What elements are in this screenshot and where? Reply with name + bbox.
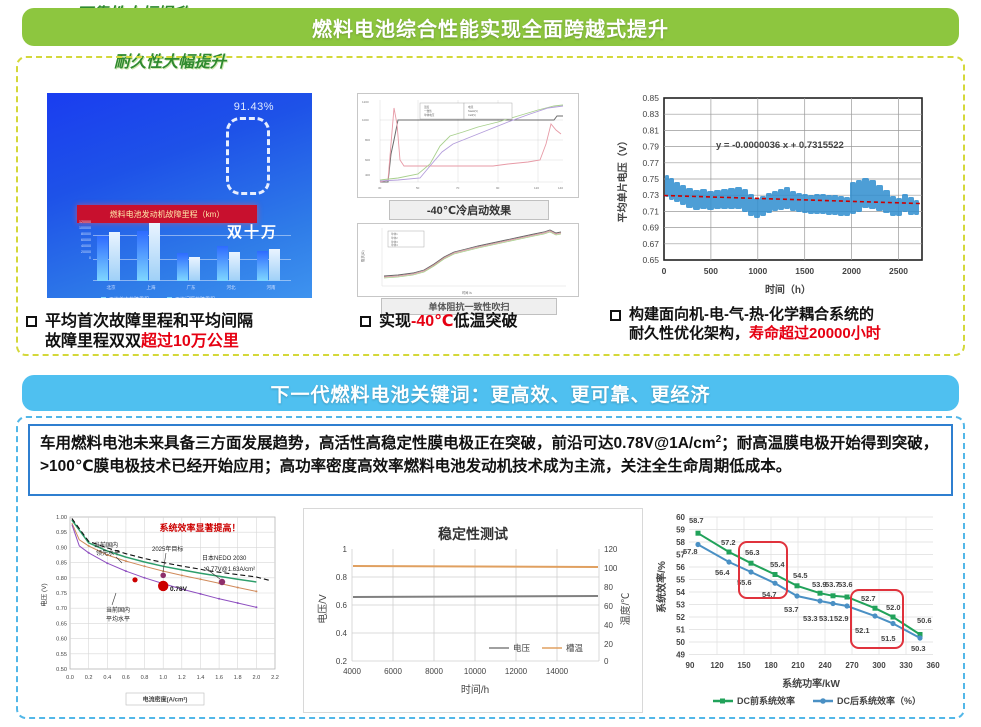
svg-text:系统效率/%: 系统效率/% bbox=[655, 561, 668, 613]
dashed-highlight-capsule bbox=[226, 117, 270, 195]
svg-text:57.8: 57.8 bbox=[683, 547, 698, 556]
svg-text:电压: 电压 bbox=[513, 643, 531, 653]
svg-text:1500: 1500 bbox=[795, 266, 814, 276]
svg-text:20: 20 bbox=[604, 640, 613, 649]
svg-text:电流: 电流 bbox=[468, 105, 474, 109]
svg-text:槽温: 槽温 bbox=[566, 643, 584, 653]
svg-text:0.79: 0.79 bbox=[642, 142, 659, 152]
svg-text:1.8: 1.8 bbox=[234, 675, 242, 681]
svg-text:58: 58 bbox=[676, 538, 685, 547]
svg-text:53.7: 53.7 bbox=[784, 605, 799, 614]
svg-text:1000: 1000 bbox=[362, 118, 369, 122]
impedance-sweep-plot: 单体1单体2单体3单体4 阻抗(Ω) 时间 /s bbox=[357, 223, 579, 297]
svg-text:59: 59 bbox=[676, 526, 685, 535]
mid-banner-title: 下一代燃料电池关键词：更高效、更可靠、更经济 bbox=[22, 375, 959, 411]
svg-text:2.2: 2.2 bbox=[271, 675, 279, 681]
svg-text:时间/h: 时间/h bbox=[461, 683, 489, 696]
svg-text:0.75: 0.75 bbox=[56, 591, 67, 597]
svg-text:系统功率/kW: 系统功率/kW bbox=[782, 677, 840, 690]
svg-text:一致性: 一致性 bbox=[424, 109, 432, 113]
svg-text:49: 49 bbox=[676, 651, 685, 660]
svg-text:0.80: 0.80 bbox=[56, 576, 67, 582]
svg-text:53.1: 53.1 bbox=[819, 614, 834, 623]
svg-text:0.60: 0.60 bbox=[56, 637, 67, 643]
svg-text:52: 52 bbox=[676, 613, 685, 622]
svg-text:0.70: 0.70 bbox=[56, 606, 67, 612]
svg-text:600: 600 bbox=[365, 158, 370, 162]
svg-text:0.75: 0.75 bbox=[642, 174, 659, 184]
svg-text:30: 30 bbox=[378, 186, 382, 190]
svg-text:51.5: 51.5 bbox=[881, 634, 896, 643]
svg-text:阻抗(Ω): 阻抗(Ω) bbox=[360, 250, 365, 262]
svg-text:领先水平: 领先水平 bbox=[96, 549, 120, 557]
bullet-text: 构建面向机-电-气-热-化学耦合系统的 耐久性优化架构，寿命超过20000小时 bbox=[629, 306, 881, 344]
svg-text:56.3: 56.3 bbox=[745, 548, 760, 557]
system-efficiency-chart: 605958 575655 545352 515049 90120150 180… bbox=[653, 505, 953, 717]
svg-text:0.6: 0.6 bbox=[336, 601, 348, 610]
svg-text:100: 100 bbox=[604, 564, 618, 573]
svg-text:53.6: 53.6 bbox=[838, 580, 853, 589]
percent-label: 91.43% bbox=[234, 101, 274, 113]
svg-text:DC后系统效率（%）: DC后系统效率（%） bbox=[837, 695, 921, 706]
cold-start-caption: -40℃冷启动效果 bbox=[389, 200, 549, 220]
svg-text:2.0: 2.0 bbox=[253, 675, 261, 681]
svg-text:53.3: 53.3 bbox=[803, 614, 818, 623]
svg-text:240: 240 bbox=[818, 661, 832, 670]
svg-text:60: 60 bbox=[676, 513, 685, 522]
svg-text:54.5: 54.5 bbox=[793, 571, 808, 580]
svg-text:60: 60 bbox=[604, 602, 613, 611]
svg-text:57.2: 57.2 bbox=[721, 538, 736, 547]
svg-text:80: 80 bbox=[604, 583, 613, 592]
svg-text:单体4: 单体4 bbox=[391, 243, 398, 247]
svg-text:400: 400 bbox=[365, 173, 370, 177]
svg-text:0.77: 0.77 bbox=[642, 158, 659, 168]
svg-text:54: 54 bbox=[676, 588, 685, 597]
svg-text:180: 180 bbox=[764, 661, 778, 670]
svg-text:1200: 1200 bbox=[362, 100, 369, 104]
svg-text:270: 270 bbox=[845, 661, 859, 670]
svg-text:时间（h）: 时间（h） bbox=[765, 283, 811, 296]
slide-page: 燃料电池综合性能实现全面跨越式提升 可靠性大幅提升 环境适应性全新突破 耐久性大… bbox=[0, 0, 981, 727]
svg-text:55.4: 55.4 bbox=[770, 560, 785, 569]
svg-text:800: 800 bbox=[365, 138, 370, 142]
bullet-environment: 实现-40℃低温突破 bbox=[360, 312, 600, 332]
bullet-durability: 构建面向机-电-气-热-化学耦合系统的 耐久性优化架构，寿命超过20000小时 bbox=[610, 306, 960, 344]
bullet-square-icon bbox=[26, 316, 37, 327]
svg-text:0.83: 0.83 bbox=[642, 109, 659, 119]
svg-text:Stack(V): Stack(V) bbox=[468, 109, 478, 113]
svg-text:单体1: 单体1 bbox=[391, 232, 398, 236]
svg-text:0: 0 bbox=[604, 657, 609, 666]
svg-text:4000: 4000 bbox=[343, 667, 361, 676]
svg-text:稳定性测试: 稳定性测试 bbox=[438, 526, 508, 542]
svg-text:150: 150 bbox=[737, 661, 751, 670]
svg-text:y = -0.0000036 x + 0.7315522: y = -0.0000036 x + 0.7315522 bbox=[716, 140, 844, 151]
svg-text:2025年目标: 2025年目标 bbox=[152, 545, 183, 553]
svg-text:2500: 2500 bbox=[889, 266, 908, 276]
svg-text:0.78V: 0.78V bbox=[170, 586, 188, 593]
svg-text:0.71: 0.71 bbox=[642, 206, 659, 216]
svg-text:50: 50 bbox=[676, 638, 685, 647]
svg-text:0.50: 0.50 bbox=[56, 667, 67, 673]
svg-text:50: 50 bbox=[416, 186, 420, 190]
svg-text:单体电压: 单体电压 bbox=[424, 113, 435, 117]
bullet-square-icon bbox=[610, 310, 621, 321]
svg-text:Cell(V): Cell(V) bbox=[468, 113, 476, 117]
svg-text:1.2: 1.2 bbox=[178, 675, 186, 681]
svg-text:日本NEDO 2030: 日本NEDO 2030 bbox=[202, 554, 247, 562]
svg-text:58.7: 58.7 bbox=[689, 516, 704, 525]
svg-text:40: 40 bbox=[604, 621, 613, 630]
svg-text:0.8: 0.8 bbox=[141, 675, 149, 681]
svg-text:500: 500 bbox=[704, 266, 718, 276]
svg-text:55: 55 bbox=[676, 576, 685, 585]
svg-text:14000: 14000 bbox=[546, 667, 569, 676]
bullet-text: 实现-40℃低温突破 bbox=[379, 312, 518, 332]
svg-text:56: 56 bbox=[676, 563, 685, 572]
svg-text:0: 0 bbox=[662, 266, 667, 276]
svg-text:53: 53 bbox=[676, 601, 685, 610]
svg-text:系统效率显著提高！: 系统效率显著提高！ bbox=[159, 522, 240, 533]
svg-text:1: 1 bbox=[343, 545, 348, 554]
svg-text:当前国内: 当前国内 bbox=[94, 541, 118, 549]
svg-text:单体2: 单体2 bbox=[391, 236, 398, 240]
svg-text:0.95: 0.95 bbox=[56, 530, 67, 536]
svg-text:120: 120 bbox=[604, 545, 618, 554]
cold-start-plot: 温度一致性单体电压 电流Stack(V)Cell(V) 12001000800 … bbox=[357, 93, 579, 198]
svg-text:52.9: 52.9 bbox=[834, 614, 849, 623]
mini-bar-y-axis: 120000 100000 80000 60000 40000 20000 0 bbox=[65, 219, 91, 261]
svg-text:0.4: 0.4 bbox=[336, 629, 348, 638]
svg-text:0.85: 0.85 bbox=[56, 561, 67, 567]
svg-text:1.6: 1.6 bbox=[215, 675, 223, 681]
svg-text:0.6: 0.6 bbox=[122, 675, 130, 681]
svg-text:10000: 10000 bbox=[464, 667, 487, 676]
svg-text:0.69: 0.69 bbox=[642, 223, 659, 233]
svg-text:温度: 温度 bbox=[424, 105, 430, 109]
svg-text:0.73: 0.73 bbox=[642, 190, 659, 200]
svg-text:90: 90 bbox=[496, 186, 500, 190]
svg-text:1000: 1000 bbox=[748, 266, 767, 276]
svg-text:电压 (V): 电压 (V) bbox=[39, 583, 48, 606]
y-tick: 0.85 bbox=[642, 93, 659, 103]
svg-text:360: 360 bbox=[926, 661, 940, 670]
svg-text:90: 90 bbox=[686, 661, 695, 670]
svg-text:0.4: 0.4 bbox=[103, 675, 111, 681]
polarization-chart: 1.000.950.90 0.850.800.75 0.700.650.60 0… bbox=[30, 505, 292, 717]
svg-text:0.8: 0.8 bbox=[336, 573, 348, 582]
svg-text:0.2: 0.2 bbox=[85, 675, 93, 681]
stability-chart: 稳定性测试 10.80.6 0.40.2 bbox=[303, 508, 643, 713]
svg-text:平均单片电压（V）: 平均单片电压（V） bbox=[616, 136, 629, 223]
svg-text:8000: 8000 bbox=[425, 667, 443, 676]
svg-text:52.0: 52.0 bbox=[886, 603, 901, 612]
svg-text:300: 300 bbox=[872, 661, 886, 670]
svg-text:50.3: 50.3 bbox=[911, 644, 926, 653]
svg-text:1.0: 1.0 bbox=[159, 675, 167, 681]
svg-text:210: 210 bbox=[791, 661, 805, 670]
svg-text:330: 330 bbox=[899, 661, 913, 670]
svg-text:120: 120 bbox=[534, 186, 539, 190]
svg-text:1.00: 1.00 bbox=[56, 515, 67, 521]
bullet-reliability: 平均首次故障里程和平均间隔 故障里程双双超过10万公里 bbox=[26, 312, 346, 352]
svg-text:DC前系统效率: DC前系统效率 bbox=[737, 695, 795, 706]
summary-paragraph: 车用燃料电池未来具备三方面发展趋势，高活性高稳定性膜电极正在突破，前沿可达0.7… bbox=[28, 424, 953, 496]
svg-text:56.4: 56.4 bbox=[715, 568, 730, 577]
svg-text:51: 51 bbox=[676, 626, 685, 635]
svg-text:温度/℃: 温度/℃ bbox=[619, 593, 632, 626]
svg-text:0.67: 0.67 bbox=[642, 239, 659, 249]
svg-text:0.77V@1.63A/cm²: 0.77V@1.63A/cm² bbox=[206, 567, 255, 573]
svg-text:0.81: 0.81 bbox=[642, 125, 659, 135]
bullet-square-icon bbox=[360, 316, 371, 327]
svg-text:12000: 12000 bbox=[505, 667, 528, 676]
svg-text:电流密度(A/cm²): 电流密度(A/cm²) bbox=[143, 696, 188, 704]
svg-text:0.65: 0.65 bbox=[642, 255, 659, 265]
svg-text:140: 140 bbox=[558, 186, 563, 190]
svg-text:0.0: 0.0 bbox=[66, 675, 74, 681]
svg-text:70: 70 bbox=[456, 186, 460, 190]
svg-text:6000: 6000 bbox=[384, 667, 402, 676]
top-banner-title: 燃料电池综合性能实现全面跨越式提升 bbox=[22, 8, 959, 46]
svg-text:50.6: 50.6 bbox=[917, 616, 932, 625]
svg-text:电压/V: 电压/V bbox=[316, 594, 329, 624]
svg-text:平均水平: 平均水平 bbox=[106, 615, 130, 623]
svg-text:0.55: 0.55 bbox=[56, 652, 67, 658]
mini-bar-chart: 120000 100000 80000 60000 40000 20000 0 … bbox=[65, 223, 295, 281]
svg-text:2000: 2000 bbox=[842, 266, 861, 276]
bullet-text: 平均首次故障里程和平均间隔 故障里程双双超过10万公里 bbox=[45, 312, 253, 352]
svg-text:52.7: 52.7 bbox=[861, 594, 876, 603]
svg-text:时间 /s: 时间 /s bbox=[462, 290, 472, 295]
reliability-slide-image: 91.43% 燃料电池发动机故障里程（km） 双十万 120000 100000… bbox=[47, 93, 312, 298]
svg-text:52.1: 52.1 bbox=[855, 626, 870, 635]
svg-text:当前国内: 当前国内 bbox=[106, 606, 130, 614]
durability-scatter-chart: 0.85 0.83 0.81 0.79 0.77 0.75 0.73 0.71 … bbox=[612, 90, 952, 302]
mini-bar-legend: 平均首次故障里程 平均间隔故障里程 bbox=[101, 296, 215, 298]
svg-text:0.90: 0.90 bbox=[56, 545, 67, 551]
svg-text:120: 120 bbox=[710, 661, 724, 670]
svg-text:0.65: 0.65 bbox=[56, 621, 67, 627]
svg-text:1.4: 1.4 bbox=[197, 675, 205, 681]
svg-text:0.2: 0.2 bbox=[336, 657, 348, 666]
